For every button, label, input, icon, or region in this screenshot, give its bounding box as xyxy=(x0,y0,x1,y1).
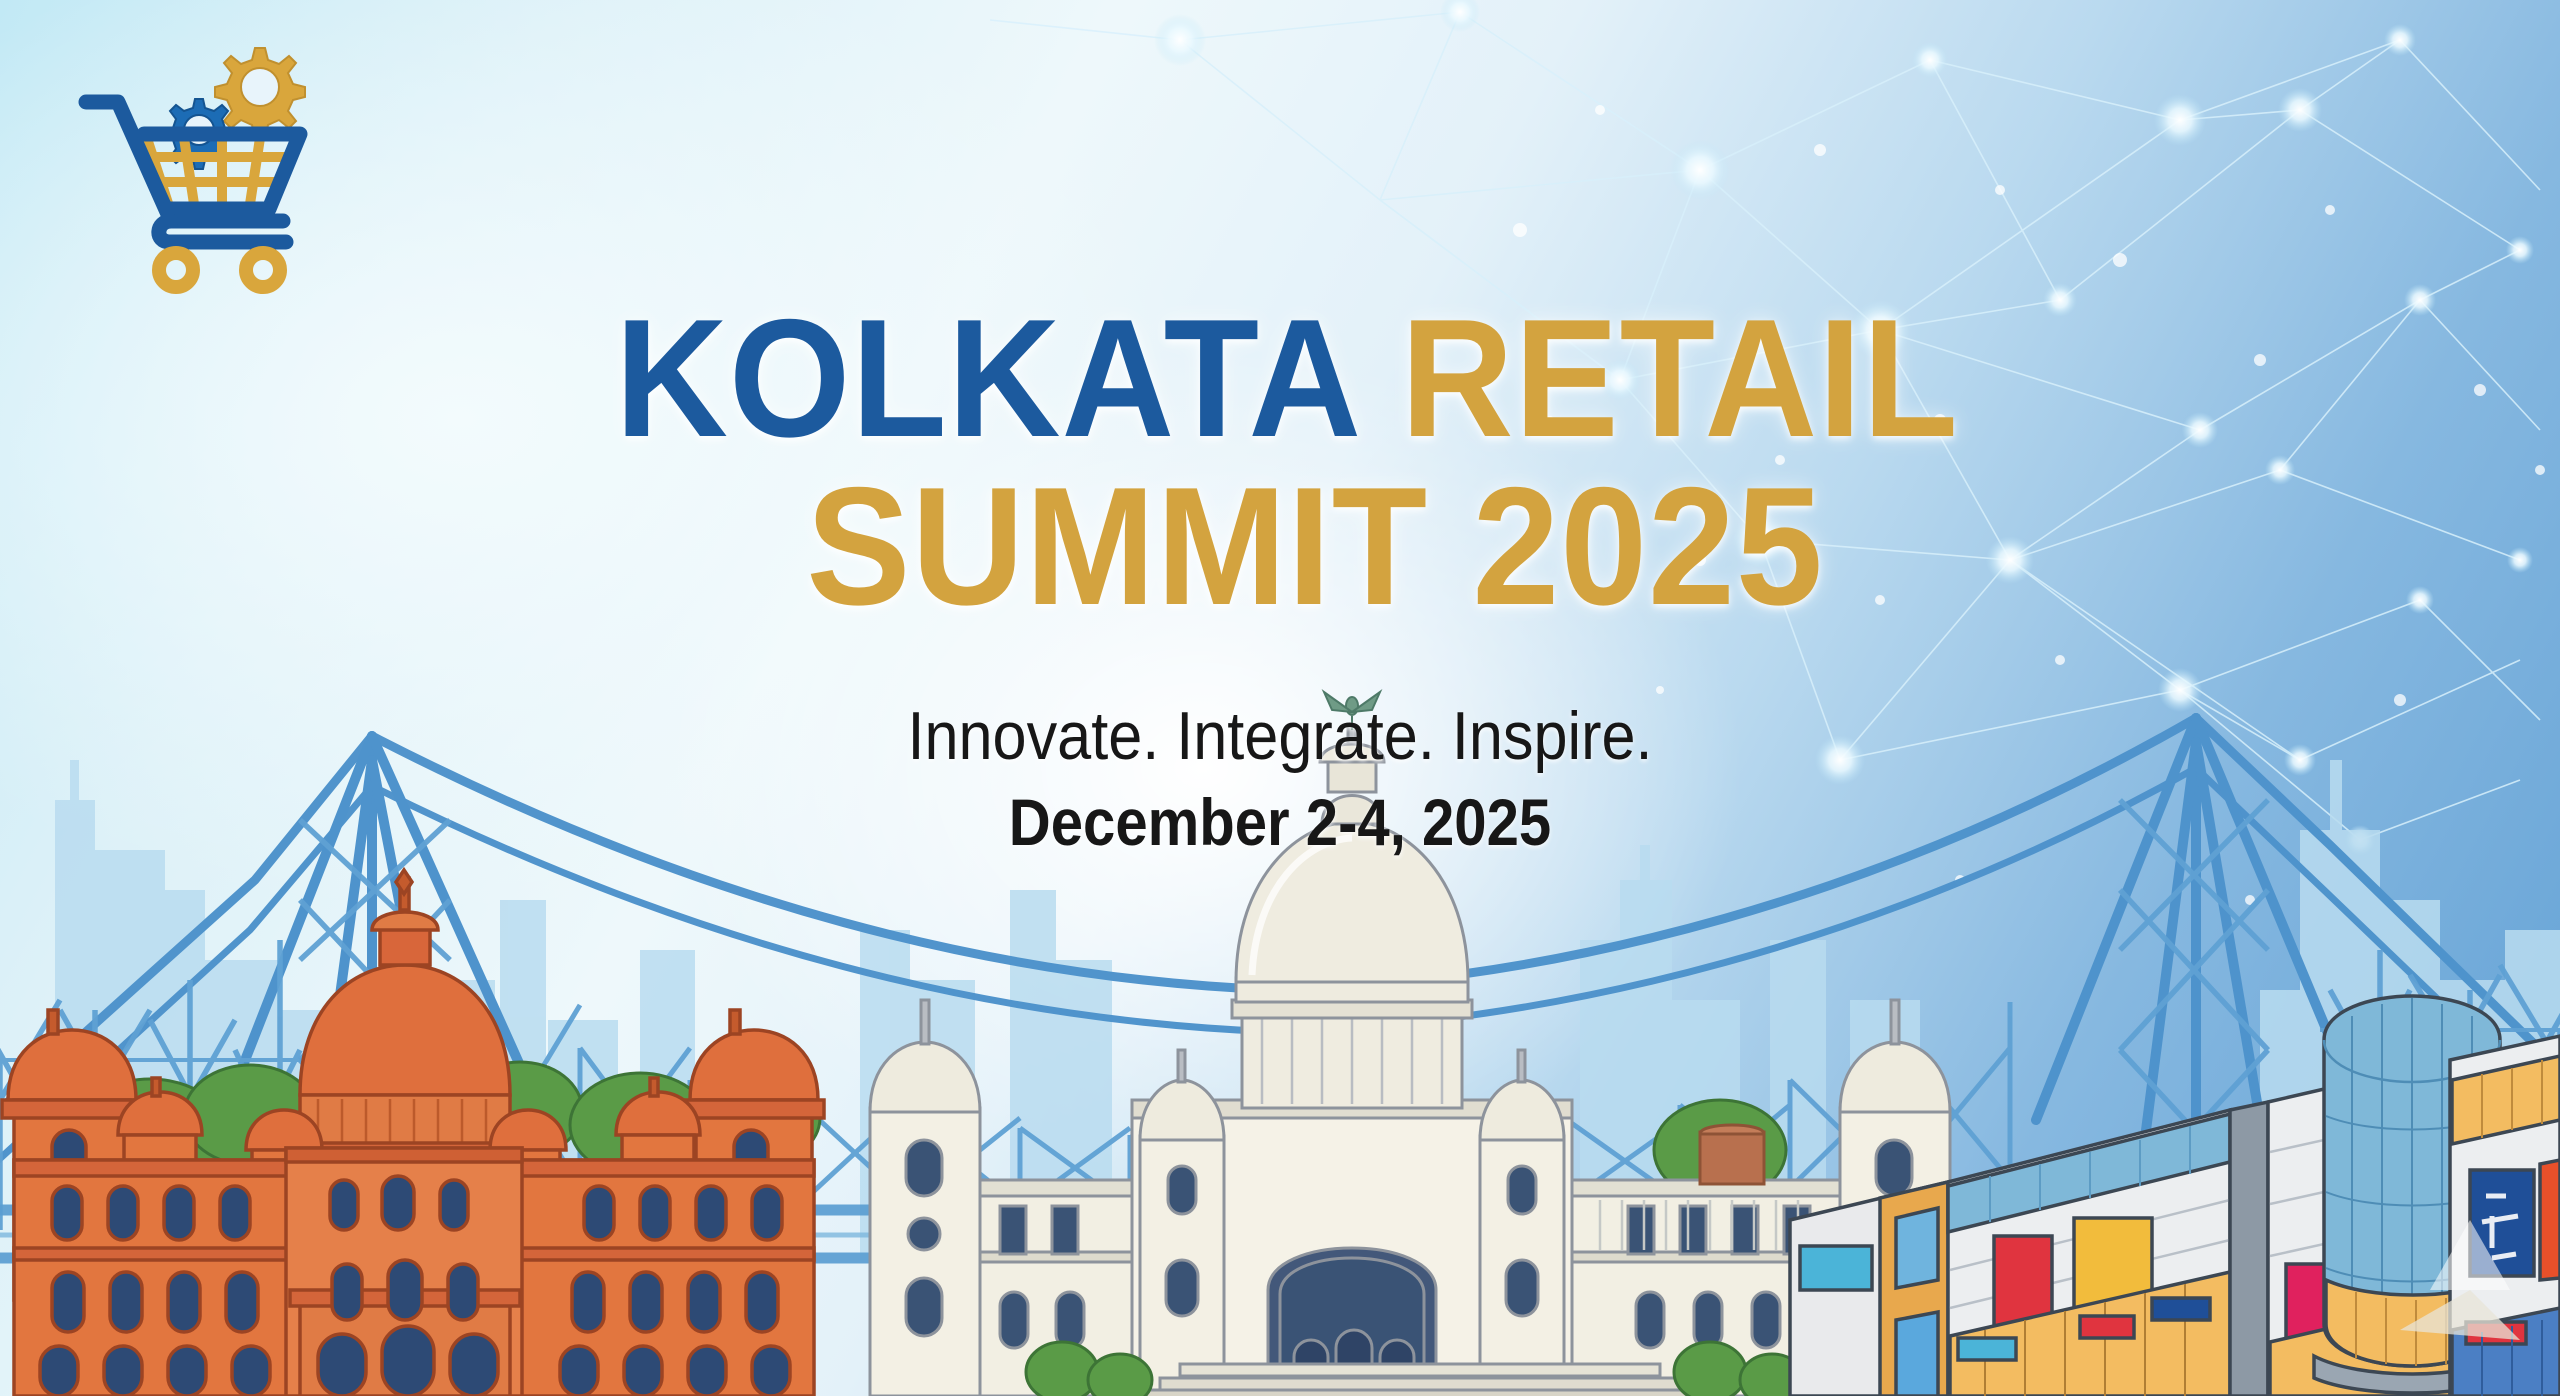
shopping-cart-gears-logo xyxy=(58,26,328,296)
billboard-cyan xyxy=(1800,1246,1872,1290)
cart-wheels-icon xyxy=(159,253,280,287)
billboard-blue xyxy=(2152,1298,2210,1320)
city-buildings-row xyxy=(0,0,2560,1396)
victoria-memorial xyxy=(870,692,1950,1396)
gear-large-icon xyxy=(215,48,305,137)
billboard-orange xyxy=(2540,1160,2560,1280)
red-brick-colonial-building xyxy=(2,870,824,1396)
event-banner: KOLKATA RETAIL SUMMIT 2025 Innovate. Int… xyxy=(0,0,2560,1396)
